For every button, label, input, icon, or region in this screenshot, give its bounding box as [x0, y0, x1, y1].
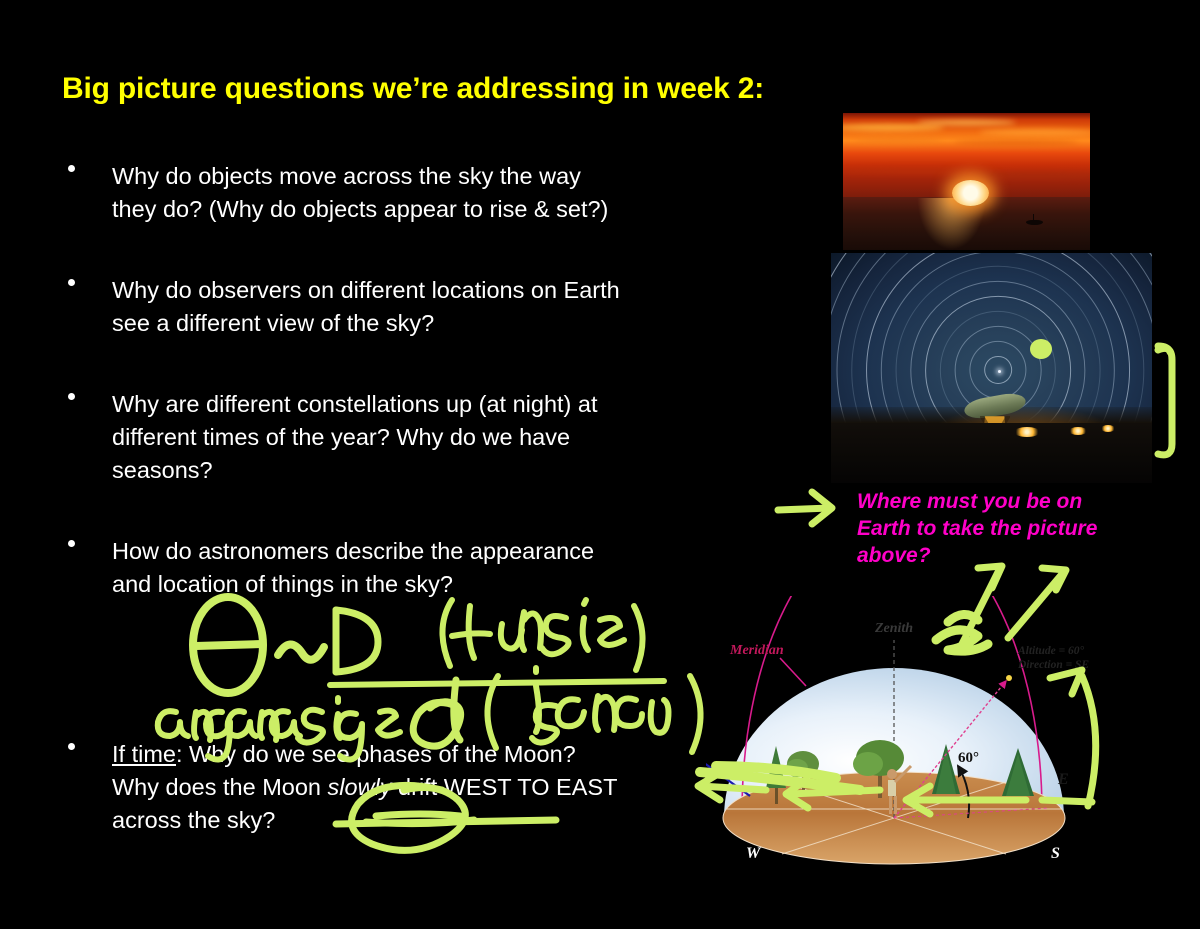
ink-arrow-to-question: [778, 492, 832, 524]
bullet-list: Why do objects move across the sky the w…: [62, 160, 762, 601]
list-item: Why do observers on different locations …: [62, 274, 762, 340]
bullet-line-rest: : Why do we see phases of the Moon?: [176, 741, 576, 767]
sun-disc: [952, 180, 989, 206]
cloud: [843, 124, 944, 131]
photo-star-trails-over-radio-telescope: [831, 253, 1152, 483]
bullet-line: Why are different constellations up (at …: [112, 388, 762, 421]
list-item: Why do objects move across the sky the w…: [62, 160, 762, 226]
ink-theta: [193, 597, 263, 693]
bullet-dot: [68, 393, 75, 400]
ink-bracket-trails: [1158, 346, 1172, 455]
sun-glint: [917, 198, 986, 250]
target-star: [1006, 675, 1012, 681]
bullet-line: How do astronomers describe the appearan…: [112, 535, 762, 568]
direction-label: Direction = SE: [1017, 659, 1089, 671]
if-time-label: If time: [112, 741, 176, 767]
list-item: Why are different constellations up (at …: [62, 388, 762, 487]
ground-lamp: [1014, 427, 1040, 437]
cloud: [971, 173, 1090, 178]
bullet-line: across the sky?: [112, 804, 617, 837]
meridian-label: Meridian: [729, 643, 784, 658]
west-label: W: [746, 845, 762, 862]
photo-sunset-over-ocean: [843, 113, 1090, 250]
bullet-line: see a different view of the sky?: [112, 307, 762, 340]
list-item-if-time: If time: Why do we see phases of the Moo…: [62, 738, 617, 837]
ink-alpha: [413, 680, 460, 746]
zenith-label: Zenith: [874, 621, 913, 636]
bullet-dot: [68, 279, 75, 286]
bullet-line: and location of things in the sky?: [112, 568, 762, 601]
foreground-ground: [831, 423, 1152, 483]
ground-lamp: [1069, 427, 1087, 435]
bullet-line: Why do objects move across the sky the w…: [112, 160, 762, 193]
bullet-line: Why do observers on different locations …: [112, 274, 762, 307]
bullet-line: they do? (Why do objects appear to rise …: [112, 193, 762, 226]
slide-canvas: Big picture questions we’re addressing i…: [0, 0, 1200, 929]
altitude-label: Altitude = 60°: [1017, 645, 1085, 657]
meridian-leader: [780, 658, 806, 686]
ink-fraction-bar: [330, 681, 664, 685]
bullet-line: If time: Why do we see phases of the Moo…: [112, 738, 617, 771]
bullet-line: Why does the Moon slowly drift WEST TO E…: [112, 771, 617, 804]
ink-tilde: [278, 644, 324, 659]
pink-line: above?: [857, 542, 1147, 569]
ink-true-size: [442, 600, 642, 670]
pink-line: Earth to take the picture: [857, 515, 1147, 542]
annotation-pink-question: Where must you be on Earth to take the p…: [857, 488, 1147, 569]
bullet-dot: [68, 743, 75, 750]
page-title: Big picture questions we’re addressing i…: [62, 72, 842, 106]
angle-label: 60°: [958, 750, 979, 766]
pink-line: Where must you be on: [857, 488, 1147, 515]
east-label: E: [1057, 771, 1069, 788]
list-item: How do astronomers describe the appearan…: [62, 535, 762, 601]
ink-D: [336, 610, 378, 672]
bullet-dot: [68, 540, 75, 547]
cloud: [855, 138, 941, 143]
emphasis-slowly: slowly: [328, 774, 392, 800]
bullet-line: different times of the year? Why do we h…: [112, 421, 762, 454]
diagram-celestial-sphere: Zenith Meridian: [706, 596, 1200, 874]
bullet-dot: [68, 165, 75, 172]
cloud: [954, 140, 1078, 145]
south-label: S: [1051, 845, 1060, 862]
bullet-line: seasons?: [112, 454, 762, 487]
